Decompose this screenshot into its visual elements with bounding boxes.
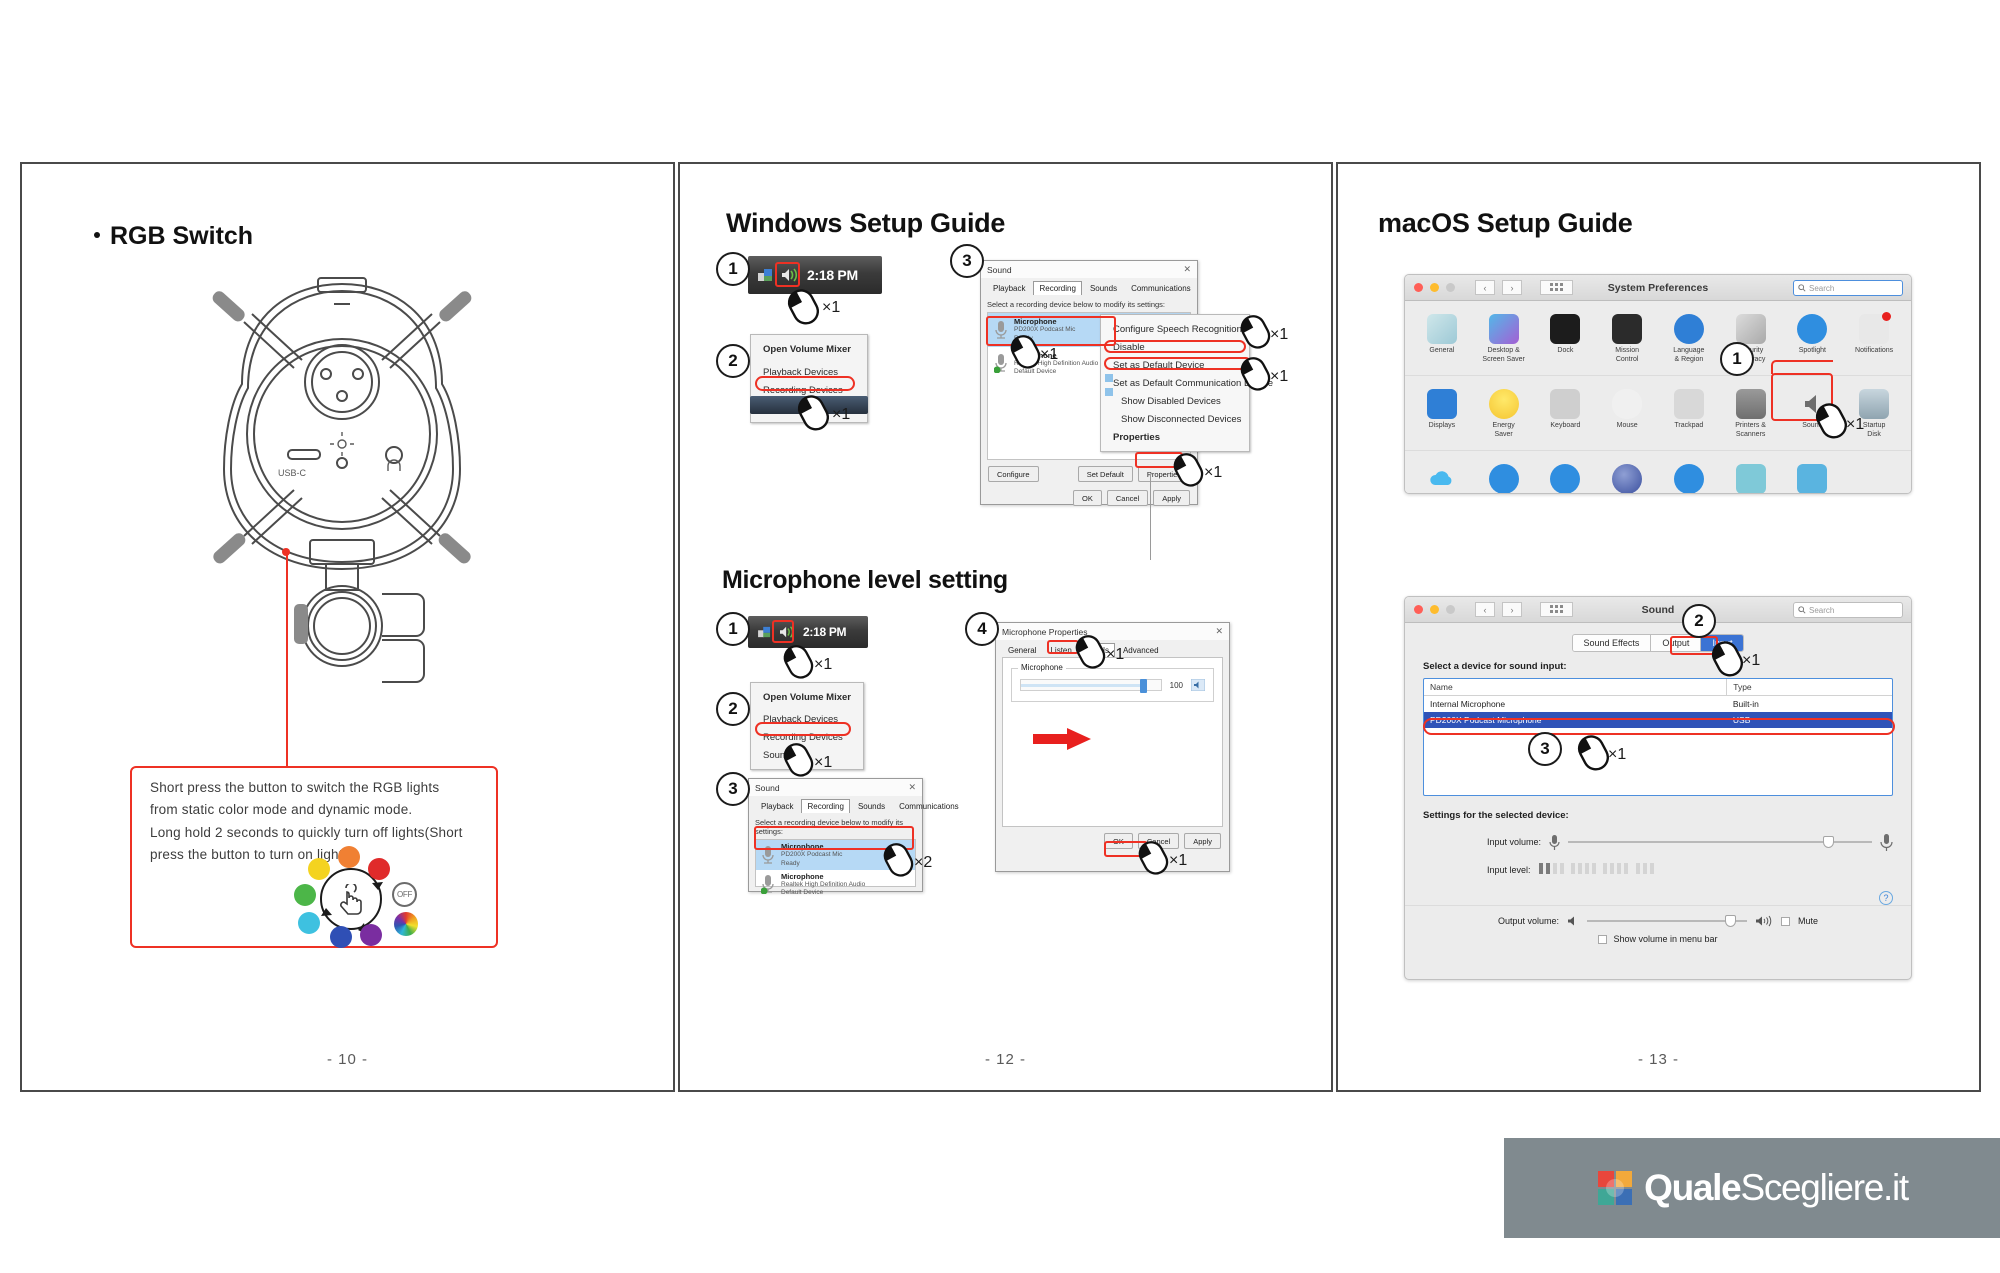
watermark-rest: Scegliere.it <box>1740 1167 1907 1208</box>
mouse-click-icon-m4b <box>1133 838 1173 876</box>
tab-recording-2[interactable]: Recording <box>801 799 849 813</box>
page-number-10: - 10 - <box>22 1051 673 1068</box>
pref-item-language-region[interactable]: Language & Region <box>1658 309 1720 371</box>
pref-item-mouse[interactable]: Mouse <box>1596 384 1658 446</box>
mic-small-icon <box>1549 834 1560 850</box>
extensions-icon <box>1736 464 1766 494</box>
app-store-icon <box>1550 464 1580 494</box>
language-region-icon <box>1674 314 1704 344</box>
set-default-comm-device-highlight <box>1104 357 1252 370</box>
row-name-internal: Internal Microphone <box>1424 696 1727 712</box>
tab-playback[interactable]: Playback <box>987 281 1031 295</box>
color-dot-blue <box>330 926 352 948</box>
pref-item-sharing[interactable]: Sharing <box>1782 459 1844 494</box>
pref-item-keyboard[interactable]: Keyboard <box>1535 384 1597 446</box>
network-icon <box>1612 464 1642 494</box>
mic-properties-body: Microphone 100 <box>1002 657 1223 827</box>
bluetooth-icon <box>1674 464 1704 494</box>
click-count-3b: ×1 <box>1270 326 1288 344</box>
grid-icon <box>1550 283 1563 293</box>
usb-c-label: USB-C <box>278 468 307 478</box>
bullet-dot-icon <box>94 232 100 238</box>
mic-level-value: 100 <box>1170 681 1183 690</box>
menu-properties[interactable]: Properties <box>1101 428 1249 446</box>
click-count-m3: ×2 <box>914 854 932 872</box>
menu-show-disconnected-devices[interactable]: Show Disconnected Devices <box>1101 410 1249 428</box>
sysprefs-search-input[interactable]: Search <box>1793 280 1903 296</box>
back-button-2[interactable]: ‹ <box>1475 602 1495 617</box>
click-count-mac2: ×1 <box>1742 652 1760 670</box>
manual-page-12: Windows Setup Guide 1 2:18 PM ×1 <box>678 162 1333 1092</box>
set-default-device-highlight <box>1104 340 1246 353</box>
rgb-color-wheel: OFF <box>292 854 422 946</box>
pref-label-energy-saver: Energy Saver <box>1493 422 1515 439</box>
close-icon-3[interactable]: ✕ <box>1215 626 1223 637</box>
red-arrow-icon <box>1033 728 1091 750</box>
input-volume-slider[interactable] <box>1568 841 1872 843</box>
network-tray-icon <box>758 268 773 282</box>
show-volume-checkbox[interactable] <box>1598 935 1607 944</box>
click-count-3d: ×1 <box>1204 464 1222 482</box>
tab-sounds[interactable]: Sounds <box>1084 281 1123 295</box>
menu-item-open-volume-mixer-2[interactable]: Open Volume Mixer <box>751 688 863 706</box>
heading-windows-setup-guide: Windows Setup Guide <box>726 208 1005 239</box>
mic-apply-button[interactable]: Apply <box>1184 833 1221 849</box>
configure-button[interactable]: Configure <box>988 466 1039 482</box>
pref-label-general: General <box>1429 347 1454 356</box>
taskbar-clock-2: 2:18 PM <box>803 625 846 639</box>
step1-connector-line <box>1771 360 1833 374</box>
close-icon-2[interactable]: ✕ <box>908 782 916 793</box>
color-dot-red <box>368 858 390 880</box>
color-dot-purple <box>360 924 382 946</box>
system-preferences-window: ‹ › System Preferences Search <box>1404 274 1912 494</box>
help-button[interactable]: ? <box>1879 891 1893 905</box>
off-state-icon: OFF <box>392 882 417 907</box>
forward-button-2[interactable]: › <box>1502 602 1522 617</box>
sysprefs-row-3: iCloud Internet Accounts App Store Netwo… <box>1405 451 1911 494</box>
sound-dialog-tabs[interactable]: Playback Recording Sounds Communications <box>981 278 1197 295</box>
rgb-dynamic-mode-icon <box>394 912 418 936</box>
callout-line-2: from static color mode and dynamic mode. <box>150 799 480 821</box>
microphone-line-art-svg: USB-C <box>182 264 502 734</box>
ok-button[interactable]: OK <box>1073 490 1102 506</box>
show-all-button-2[interactable] <box>1540 602 1573 617</box>
mouse-click-icon-3b <box>1235 312 1275 350</box>
settings-label: Settings for the selected device: <box>1423 810 1893 821</box>
sound-dialog-2-titlebar: Sound ✕ <box>749 779 922 796</box>
menu-configure-speech-recognition[interactable]: Configure Speech Recognition <box>1101 320 1249 338</box>
heading-microphone-level-setting: Microphone level setting <box>722 566 1008 595</box>
tab-recording[interactable]: Recording <box>1033 281 1081 295</box>
speaker-icon-highlight-1 <box>775 262 800 287</box>
cloud-glyph-icon <box>1427 464 1457 494</box>
tab-playback-2[interactable]: Playback <box>755 799 799 813</box>
pref-label-keyboard: Keyboard <box>1550 422 1580 431</box>
taskbar-clock-1: 2:18 PM <box>807 267 858 283</box>
pref-item-internet-accounts[interactable]: Internet Accounts <box>1473 459 1535 494</box>
color-dot-cyan <box>298 912 320 934</box>
mouse-click-icon-m4a <box>1070 632 1110 670</box>
callout-connector-line <box>286 552 288 767</box>
tab-sounds-2[interactable]: Sounds <box>852 799 891 813</box>
step-bubble-1: 1 <box>716 252 750 286</box>
sysprefs-titlebar: ‹ › System Preferences Search <box>1405 275 1911 301</box>
qualescegliere-logo-icon <box>1596 1169 1634 1207</box>
keyboard-icon <box>1550 389 1580 419</box>
table-header-row: Name Type <box>1424 679 1892 696</box>
input-level-label: Input level: <box>1487 865 1531 875</box>
notifications-icon <box>1859 314 1889 344</box>
set-default-button[interactable]: Set Default <box>1078 466 1133 482</box>
watermark-qualescegliere: QualeScegliere.it <box>1504 1138 2000 1238</box>
pref-item-bluetooth[interactable]: Bluetooth <box>1658 459 1720 494</box>
click-count-m4a: ×1 <box>1106 646 1124 664</box>
callout-line-1: Short press the button to switch the RGB… <box>150 777 480 799</box>
pref-item-displays[interactable]: Displays <box>1411 384 1473 446</box>
minimize-traffic-light[interactable] <box>1430 283 1439 292</box>
heading-macos-setup-guide: macOS Setup Guide <box>1378 208 1632 239</box>
sound-dialog-2-title: Sound <box>755 783 780 793</box>
click-count-mac3: ×1 <box>1608 746 1626 764</box>
page-title-rgb-switch: RGB Switch <box>94 222 253 251</box>
internet-accounts-icon <box>1489 464 1519 494</box>
displays-icon <box>1427 389 1457 419</box>
mouse-icon <box>1612 389 1642 419</box>
click-count-m4b: ×1 <box>1169 852 1187 870</box>
color-dot-yellow <box>308 858 330 880</box>
printers-scanners-icon <box>1736 389 1766 419</box>
pd200x-row-highlight <box>1423 718 1895 735</box>
pref-item-energy-saver[interactable]: Energy Saver <box>1473 384 1535 446</box>
section-connector-line <box>1150 474 1151 560</box>
general-icon <box>1427 314 1457 344</box>
close-traffic-light[interactable] <box>1414 283 1423 292</box>
manual-page-10: RGB Switch <box>20 162 675 1092</box>
pref-label-language: Language & Region <box>1673 347 1704 364</box>
mission-control-icon <box>1612 314 1642 344</box>
click-count-m2: ×1 <box>814 754 832 772</box>
startup-disk-icon <box>1859 389 1889 419</box>
show-volume-label: Show volume in menu bar <box>1613 934 1717 944</box>
sound-search-input[interactable]: Search <box>1793 602 1903 618</box>
input-volume-label: Input volume: <box>1487 837 1541 847</box>
click-count-mac1: ×1 <box>1846 416 1864 434</box>
mute-label: Mute <box>1798 916 1818 926</box>
menu-set-as-default-communication-device[interactable]: Set as Default Communication Device <box>1101 374 1249 392</box>
pref-item-network[interactable]: Network <box>1596 459 1658 494</box>
select-device-label: Select a device for sound input: <box>1423 661 1893 672</box>
output-volume-label: Output volume: <box>1498 916 1559 926</box>
device-sub1-3: PD200X Podcast Mic <box>781 851 842 859</box>
zoom-traffic-light-2[interactable] <box>1446 605 1455 614</box>
output-volume-slider[interactable] <box>1587 920 1747 922</box>
sound-dialog-title: Sound <box>987 265 1012 275</box>
mute-checkbox[interactable] <box>1781 917 1790 926</box>
tab-sound-effects[interactable]: Sound Effects <box>1573 635 1652 651</box>
step-bubble-mac2: 2 <box>1682 604 1716 638</box>
page-number-12: - 12 - <box>680 1051 1331 1068</box>
checkmark-icon-2 <box>1105 388 1113 396</box>
step-bubble-m3: 3 <box>716 772 750 806</box>
click-count-3a: ×1 <box>1040 346 1058 364</box>
network-tray-icon-2 <box>758 626 771 638</box>
sound-dialog-2-tabs[interactable]: Playback Recording Sounds Communications <box>749 796 922 813</box>
speaker-low-icon <box>1567 915 1579 927</box>
forward-button[interactable]: › <box>1502 280 1522 295</box>
speaker-high-icon <box>1755 915 1773 927</box>
mic-properties-titlebar: Microphone Properties ✕ <box>996 623 1229 640</box>
row-type-internal: Built-in <box>1727 696 1892 712</box>
microphone-device-icon-4 <box>761 874 775 894</box>
search-icon <box>1798 284 1806 292</box>
mouse-click-icon-2 <box>792 392 834 432</box>
input-device-table[interactable]: Name Type Internal Microphone Built-in P… <box>1423 678 1893 796</box>
microphone-illustration: USB-C <box>182 264 502 734</box>
pref-item-trackpad[interactable]: Trackpad <box>1658 384 1720 446</box>
speaker-small-icon <box>1191 679 1205 691</box>
step-bubble-m2: 2 <box>716 692 750 726</box>
page-number-13: - 13 - <box>1338 1051 1979 1068</box>
sound-search-placeholder: Search <box>1809 606 1834 615</box>
menu-show-disabled-devices[interactable]: Show Disabled Devices <box>1101 392 1249 410</box>
watermark-uale: uale <box>1672 1167 1741 1208</box>
mic-group-label: Microphone <box>1018 663 1066 672</box>
manual-page-13: macOS Setup Guide ‹ › System Preferences <box>1336 162 1981 1092</box>
pref-label-mission-control: Mission Control <box>1615 347 1639 364</box>
step-bubble-mac1: 1 <box>1720 342 1754 376</box>
apply-button[interactable]: Apply <box>1153 490 1190 506</box>
color-dot-orange <box>338 846 360 868</box>
sysprefs-row-1: General Desktop & Screen Saver Dock Miss… <box>1405 301 1911 376</box>
click-count-1: ×1 <box>822 299 840 317</box>
sound-titlebar: ‹ › Sound Search <box>1405 597 1911 623</box>
checkmark-icon-1 <box>1105 374 1113 382</box>
speaker-icon-highlight-2 <box>772 620 794 643</box>
spotlight-icon <box>1797 314 1827 344</box>
device-sub2-3: Ready <box>781 860 842 868</box>
step-bubble-mac3: 3 <box>1528 732 1562 766</box>
color-dot-green <box>294 884 316 906</box>
callout-connector-dot <box>282 548 290 556</box>
device-sub2-4: Default Device <box>781 889 865 897</box>
pref-label-notifications: Notifications <box>1855 347 1893 356</box>
minimize-traffic-light-2[interactable] <box>1430 605 1439 614</box>
pref-item-desktop-screensaver[interactable]: Desktop & Screen Saver <box>1473 309 1535 371</box>
back-button[interactable]: ‹ <box>1475 280 1495 295</box>
pref-item-notifications[interactable]: Notifications <box>1843 309 1905 371</box>
grid-icon-2 <box>1550 605 1563 615</box>
watermark-q: Q <box>1644 1167 1671 1208</box>
cancel-button[interactable]: Cancel <box>1107 490 1148 506</box>
pref-item-extensions[interactable]: Extensions <box>1720 459 1782 494</box>
device-context-menu[interactable]: Configure Speech Recognition Disable Set… <box>1100 314 1250 452</box>
pref-item-app-store[interactable]: App Store <box>1535 459 1597 494</box>
pref-label-desktop: Desktop & Screen Saver <box>1482 347 1524 364</box>
column-name: Name <box>1424 679 1726 695</box>
device-name-4: Microphone <box>781 872 865 881</box>
step-bubble-m4: 4 <box>965 612 999 646</box>
pref-item-general[interactable]: General <box>1411 309 1473 371</box>
click-count-2: ×1 <box>832 406 850 424</box>
mouse-click-icon-m2 <box>778 740 818 778</box>
click-count-3c: ×1 <box>1270 368 1288 386</box>
pref-label-displays: Displays <box>1429 422 1455 431</box>
pref-label-dock: Dock <box>1557 347 1573 356</box>
sounds-menu-highlight <box>755 376 855 391</box>
search-icon-2 <box>1798 606 1806 614</box>
input-level-meter <box>1539 861 1657 879</box>
close-traffic-light-2[interactable] <box>1414 605 1423 614</box>
watermark-text: QualeScegliere.it <box>1644 1167 1908 1209</box>
sounds-menu-highlight-2 <box>755 722 851 736</box>
security-privacy-icon <box>1736 314 1766 344</box>
step-bubble-3: 3 <box>950 244 984 278</box>
click-count-m1: ×1 <box>814 656 832 674</box>
mouse-click-icon-3d <box>1168 450 1208 488</box>
table-row-internal-microphone[interactable]: Internal Microphone Built-in <box>1424 696 1892 712</box>
energy-saver-icon <box>1489 389 1519 419</box>
pref-label-trackpad: Trackpad <box>1674 422 1703 431</box>
sound-window: ‹ › Sound Search <box>1404 596 1912 980</box>
pref-label-printers: Printers & Scanners <box>1735 422 1766 439</box>
step-bubble-m1: 1 <box>716 612 750 646</box>
mouse-click-icon-3c <box>1235 354 1275 392</box>
dock-icon <box>1550 314 1580 344</box>
pref-item-mission-control[interactable]: Mission Control <box>1596 309 1658 371</box>
tab-general[interactable]: General <box>1002 643 1042 657</box>
icloud-icon <box>1427 464 1457 494</box>
column-type: Type <box>1726 679 1892 695</box>
rgb-callout-text: Short press the button to switch the RGB… <box>150 777 480 866</box>
zoom-traffic-light[interactable] <box>1446 283 1455 292</box>
mouse-click-icon-m1 <box>778 642 818 680</box>
sysprefs-search-placeholder: Search <box>1809 284 1834 293</box>
show-all-button[interactable] <box>1540 280 1573 295</box>
sharing-icon <box>1797 464 1827 494</box>
mouse-click-icon-3a <box>1005 332 1045 370</box>
close-icon[interactable]: ✕ <box>1183 264 1191 275</box>
tab-communications-2[interactable]: Communications <box>893 799 965 813</box>
callout-line-3: Long hold 2 seconds to quickly turn off … <box>150 822 480 844</box>
mic-large-icon <box>1880 833 1893 851</box>
step-bubble-2: 2 <box>716 344 750 378</box>
pref-item-dock[interactable]: Dock <box>1535 309 1597 371</box>
finger-tap-icon <box>336 884 366 916</box>
pref-item-icloud[interactable]: iCloud <box>1411 459 1473 494</box>
menu-item-open-volume-mixer[interactable]: Open Volume Mixer <box>751 340 867 358</box>
mouse-click-icon-1 <box>782 286 824 326</box>
screenshot-root: RGB Switch <box>0 0 2000 1273</box>
desktop-screensaver-icon <box>1489 314 1519 344</box>
pref-label-mouse: Mouse <box>1617 422 1638 431</box>
tab-communications[interactable]: Communications <box>1125 281 1197 295</box>
sound-dialog-hint: Select a recording device below to modif… <box>981 295 1197 312</box>
sound-dialog-titlebar: Sound ✕ <box>981 261 1197 278</box>
pref-label-spotlight: Spotlight <box>1799 347 1826 356</box>
mouse-click-icon-m3 <box>878 840 918 878</box>
trackpad-icon <box>1674 389 1704 419</box>
device-sub1-4: Realtek High Definition Audio <box>781 881 865 889</box>
pref-label-startup-disk: Startup Disk <box>1863 422 1886 439</box>
